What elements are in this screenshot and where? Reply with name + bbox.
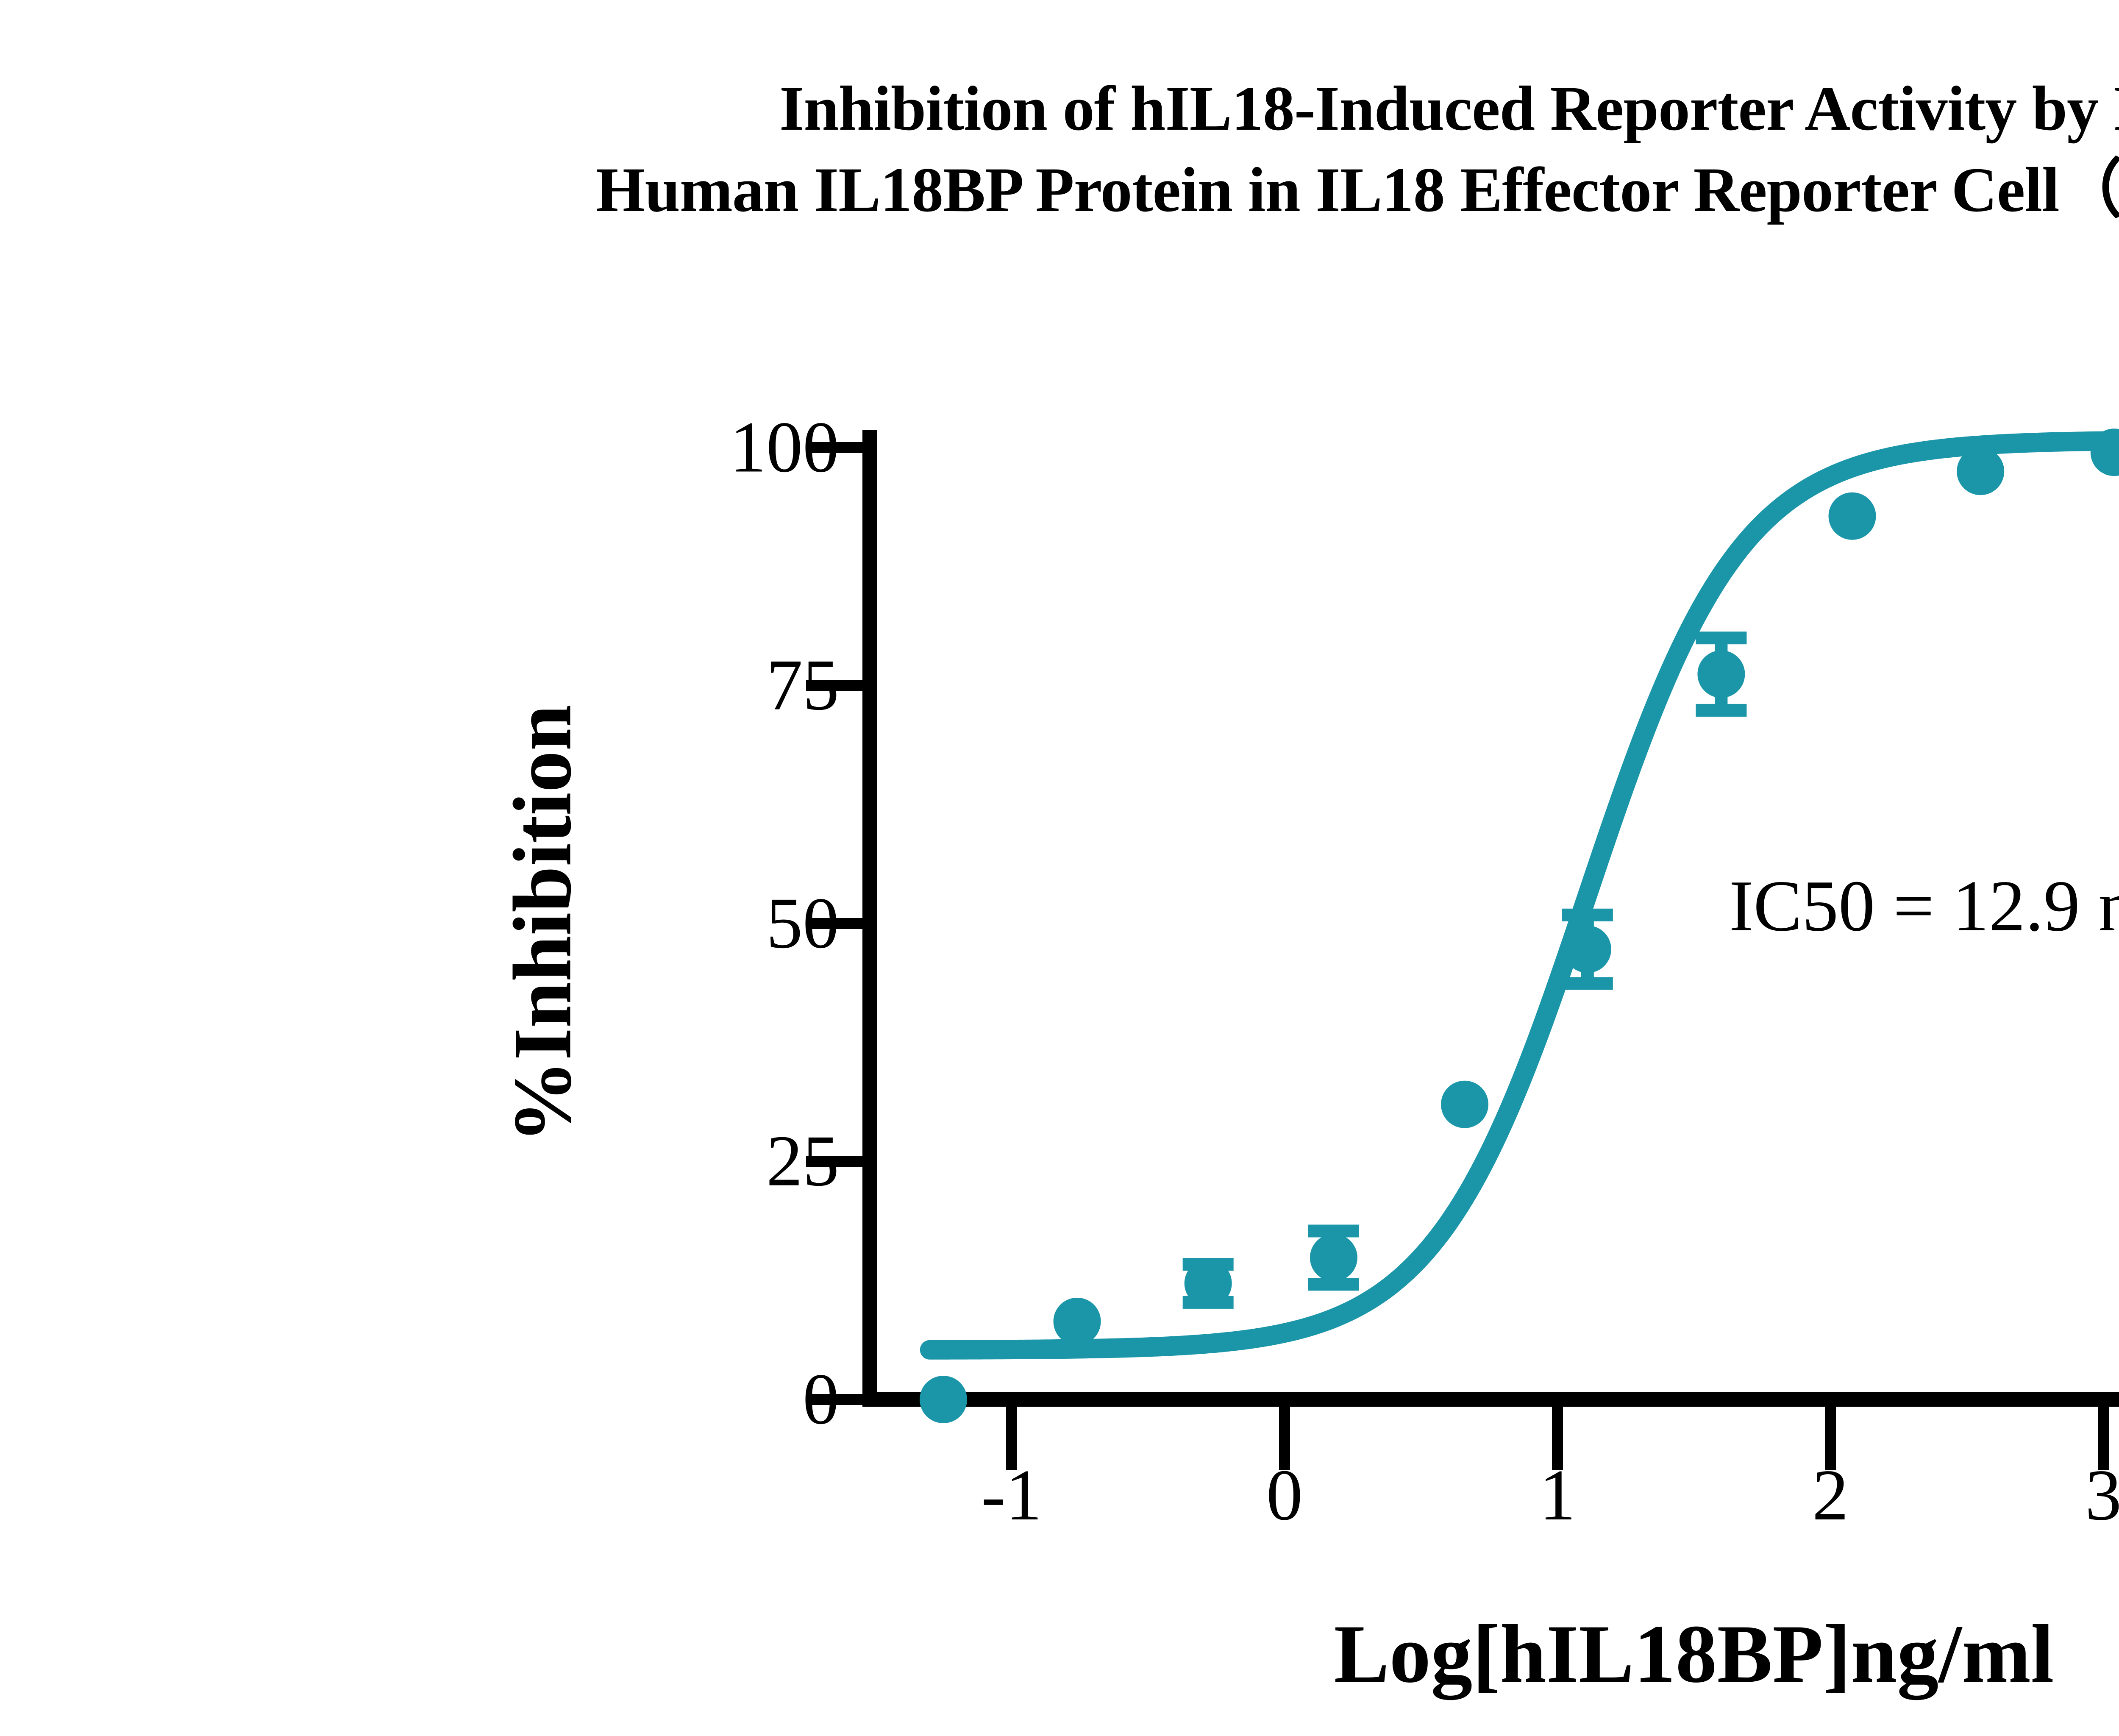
- ytick-label-100: 100: [716, 406, 839, 490]
- xtick-label-neg1: -1: [981, 1454, 1042, 1537]
- x-axis-spine: [862, 1392, 2119, 1407]
- xtick-label-3: 3: [2085, 1454, 2119, 1537]
- chart-figure: Inhibition of hIL18-Induced Reporter Act…: [0, 0, 2119, 1736]
- ytick-label-50: 50: [716, 882, 839, 965]
- xtick-label-0: 0: [1266, 1454, 1303, 1537]
- ytick-label-0: 0: [716, 1358, 839, 1441]
- data-point: [1697, 651, 1745, 698]
- data-point: [1441, 1081, 1488, 1128]
- ytick-label-75: 75: [716, 644, 839, 727]
- data-point: [1564, 926, 1611, 973]
- data-point: [1957, 448, 2004, 495]
- xtick-label-2: 2: [1812, 1454, 1849, 1537]
- data-point: [1829, 492, 1876, 540]
- data-point: [920, 1376, 967, 1423]
- data-point: [1054, 1298, 1101, 1345]
- xtick-label-1: 1: [1539, 1454, 1576, 1537]
- x-axis-title: Log[hIL18BP]ng/ml: [1334, 1606, 2054, 1702]
- ic50-annotation: IC50 = 12.9 ng/ml: [1729, 865, 2119, 948]
- data-point: [1310, 1234, 1357, 1281]
- ytick-label-25: 25: [716, 1120, 839, 1203]
- data-point: [1185, 1260, 1232, 1307]
- y-axis-title: %Inhibition: [495, 705, 590, 1143]
